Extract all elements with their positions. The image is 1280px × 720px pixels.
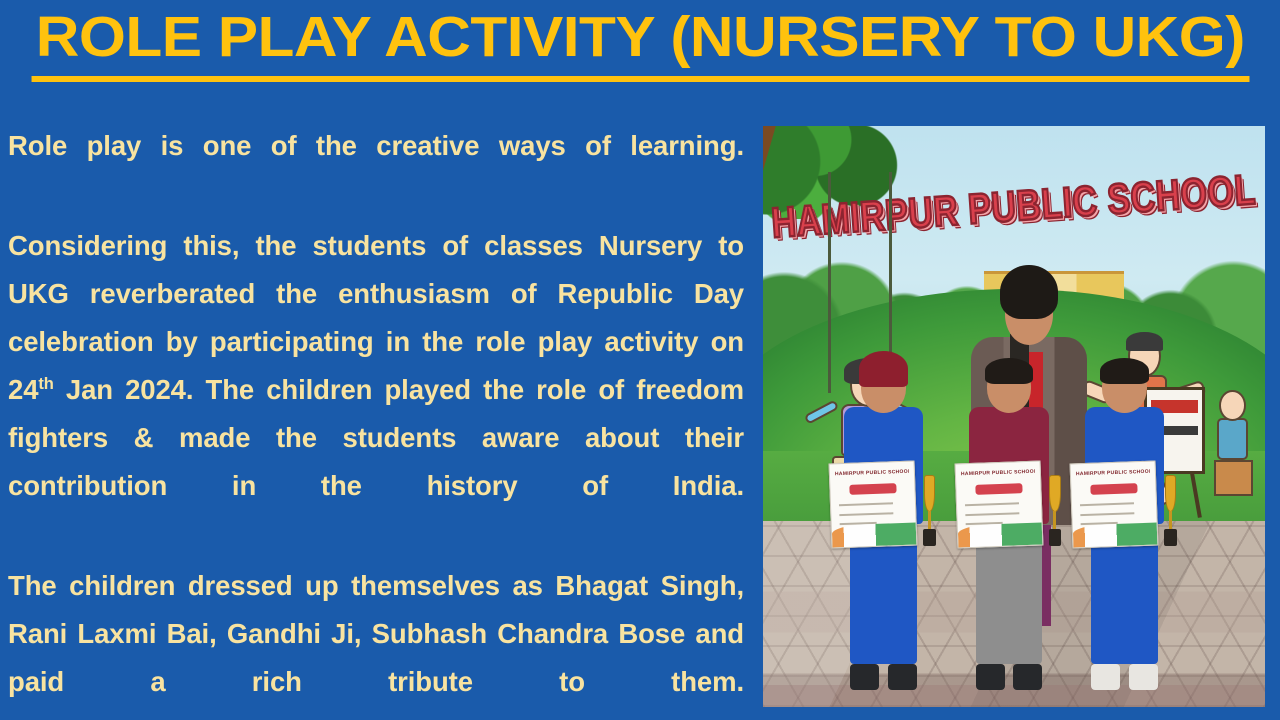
student-shoe-right [1129,664,1158,690]
trophy-base [1049,529,1062,546]
teacher-hair [1000,265,1058,319]
paragraph-2: Considering this, the students of classe… [8,222,744,558]
certificate-ribbon [849,483,896,495]
page-title: ROLE PLAY ACTIVITY (NURSERY TO UKG) [31,6,1249,82]
certificate-tricolor-wave [832,522,917,546]
student-figure: HAMIRPUR PUBLIC SCHOOL [828,364,938,689]
trophy [922,475,936,547]
certificate-line [965,502,1019,506]
certificate: HAMIRPUR PUBLIC SCHOOL [829,460,918,548]
student-figure: HAMIRPUR PUBLIC SCHOOL [954,364,1064,689]
student-shoe-right [888,664,917,690]
trophy [1163,475,1177,547]
cartoon-hair [1126,332,1162,351]
certificate-line [840,502,894,506]
student-hair [1100,358,1149,384]
title-block: ROLE PLAY ACTIVITY (NURSERY TO UKG) [0,6,1280,82]
trophy-stem [1169,511,1172,530]
certificate-line [966,512,1020,516]
trophy-cup [1049,475,1060,512]
student-shoe-right [1013,664,1042,690]
slide: ROLE PLAY ACTIVITY (NURSERY TO UKG) Role… [0,0,1280,720]
student-shoe-left [976,664,1005,690]
paragraph-1: Role play is one of the creative ways of… [8,122,744,218]
student-figure: HAMIRPUR PUBLIC SCHOOL [1069,364,1179,689]
trophy-base [1164,529,1177,546]
trophy-cup [1165,475,1176,512]
painter-stool [1214,460,1253,496]
certificate: HAMIRPUR PUBLIC SCHOOL [1070,460,1159,548]
certificate-tricolor-wave [958,522,1043,546]
paragraph-3: The children dressed up themselves as Bh… [8,562,744,720]
student-hair [985,358,1034,384]
certificate-tricolor-wave [1073,522,1158,546]
paragraph-2-post-text: Jan 2024. The children played the role o… [8,374,744,501]
body-text-column: Role play is one of the creative ways of… [8,122,744,714]
certificate: HAMIRPUR PUBLIC SCHOOL [955,460,1044,548]
certificate-header: HAMIRPUR PUBLIC SCHOOL [961,468,1035,482]
trophy-stem [1053,511,1056,530]
certificate-header: HAMIRPUR PUBLIC SCHOOL [835,468,909,482]
trophy-cup [924,475,935,512]
student-shoe-left [1091,664,1120,690]
certificate-line [1081,512,1135,516]
ordinal-superscript: th [38,375,53,393]
certificate-ribbon [975,483,1022,495]
trophy-base [923,529,936,546]
certificate-header: HAMIRPUR PUBLIC SCHOOL [1076,468,1150,482]
activity-photo: HAMIRPUR PUBLIC SCHOOL [763,126,1265,707]
student-shoe-left [850,664,879,690]
certificate-line [840,512,894,516]
certificate-line [1081,502,1135,506]
painter-head [1219,390,1246,421]
student-cap [859,351,908,387]
trophy-stem [928,511,931,530]
painter-body [1217,418,1248,460]
trophy [1048,475,1062,547]
certificate-ribbon [1090,483,1137,495]
photo-content: HAMIRPUR PUBLIC SCHOOL [763,126,1265,707]
